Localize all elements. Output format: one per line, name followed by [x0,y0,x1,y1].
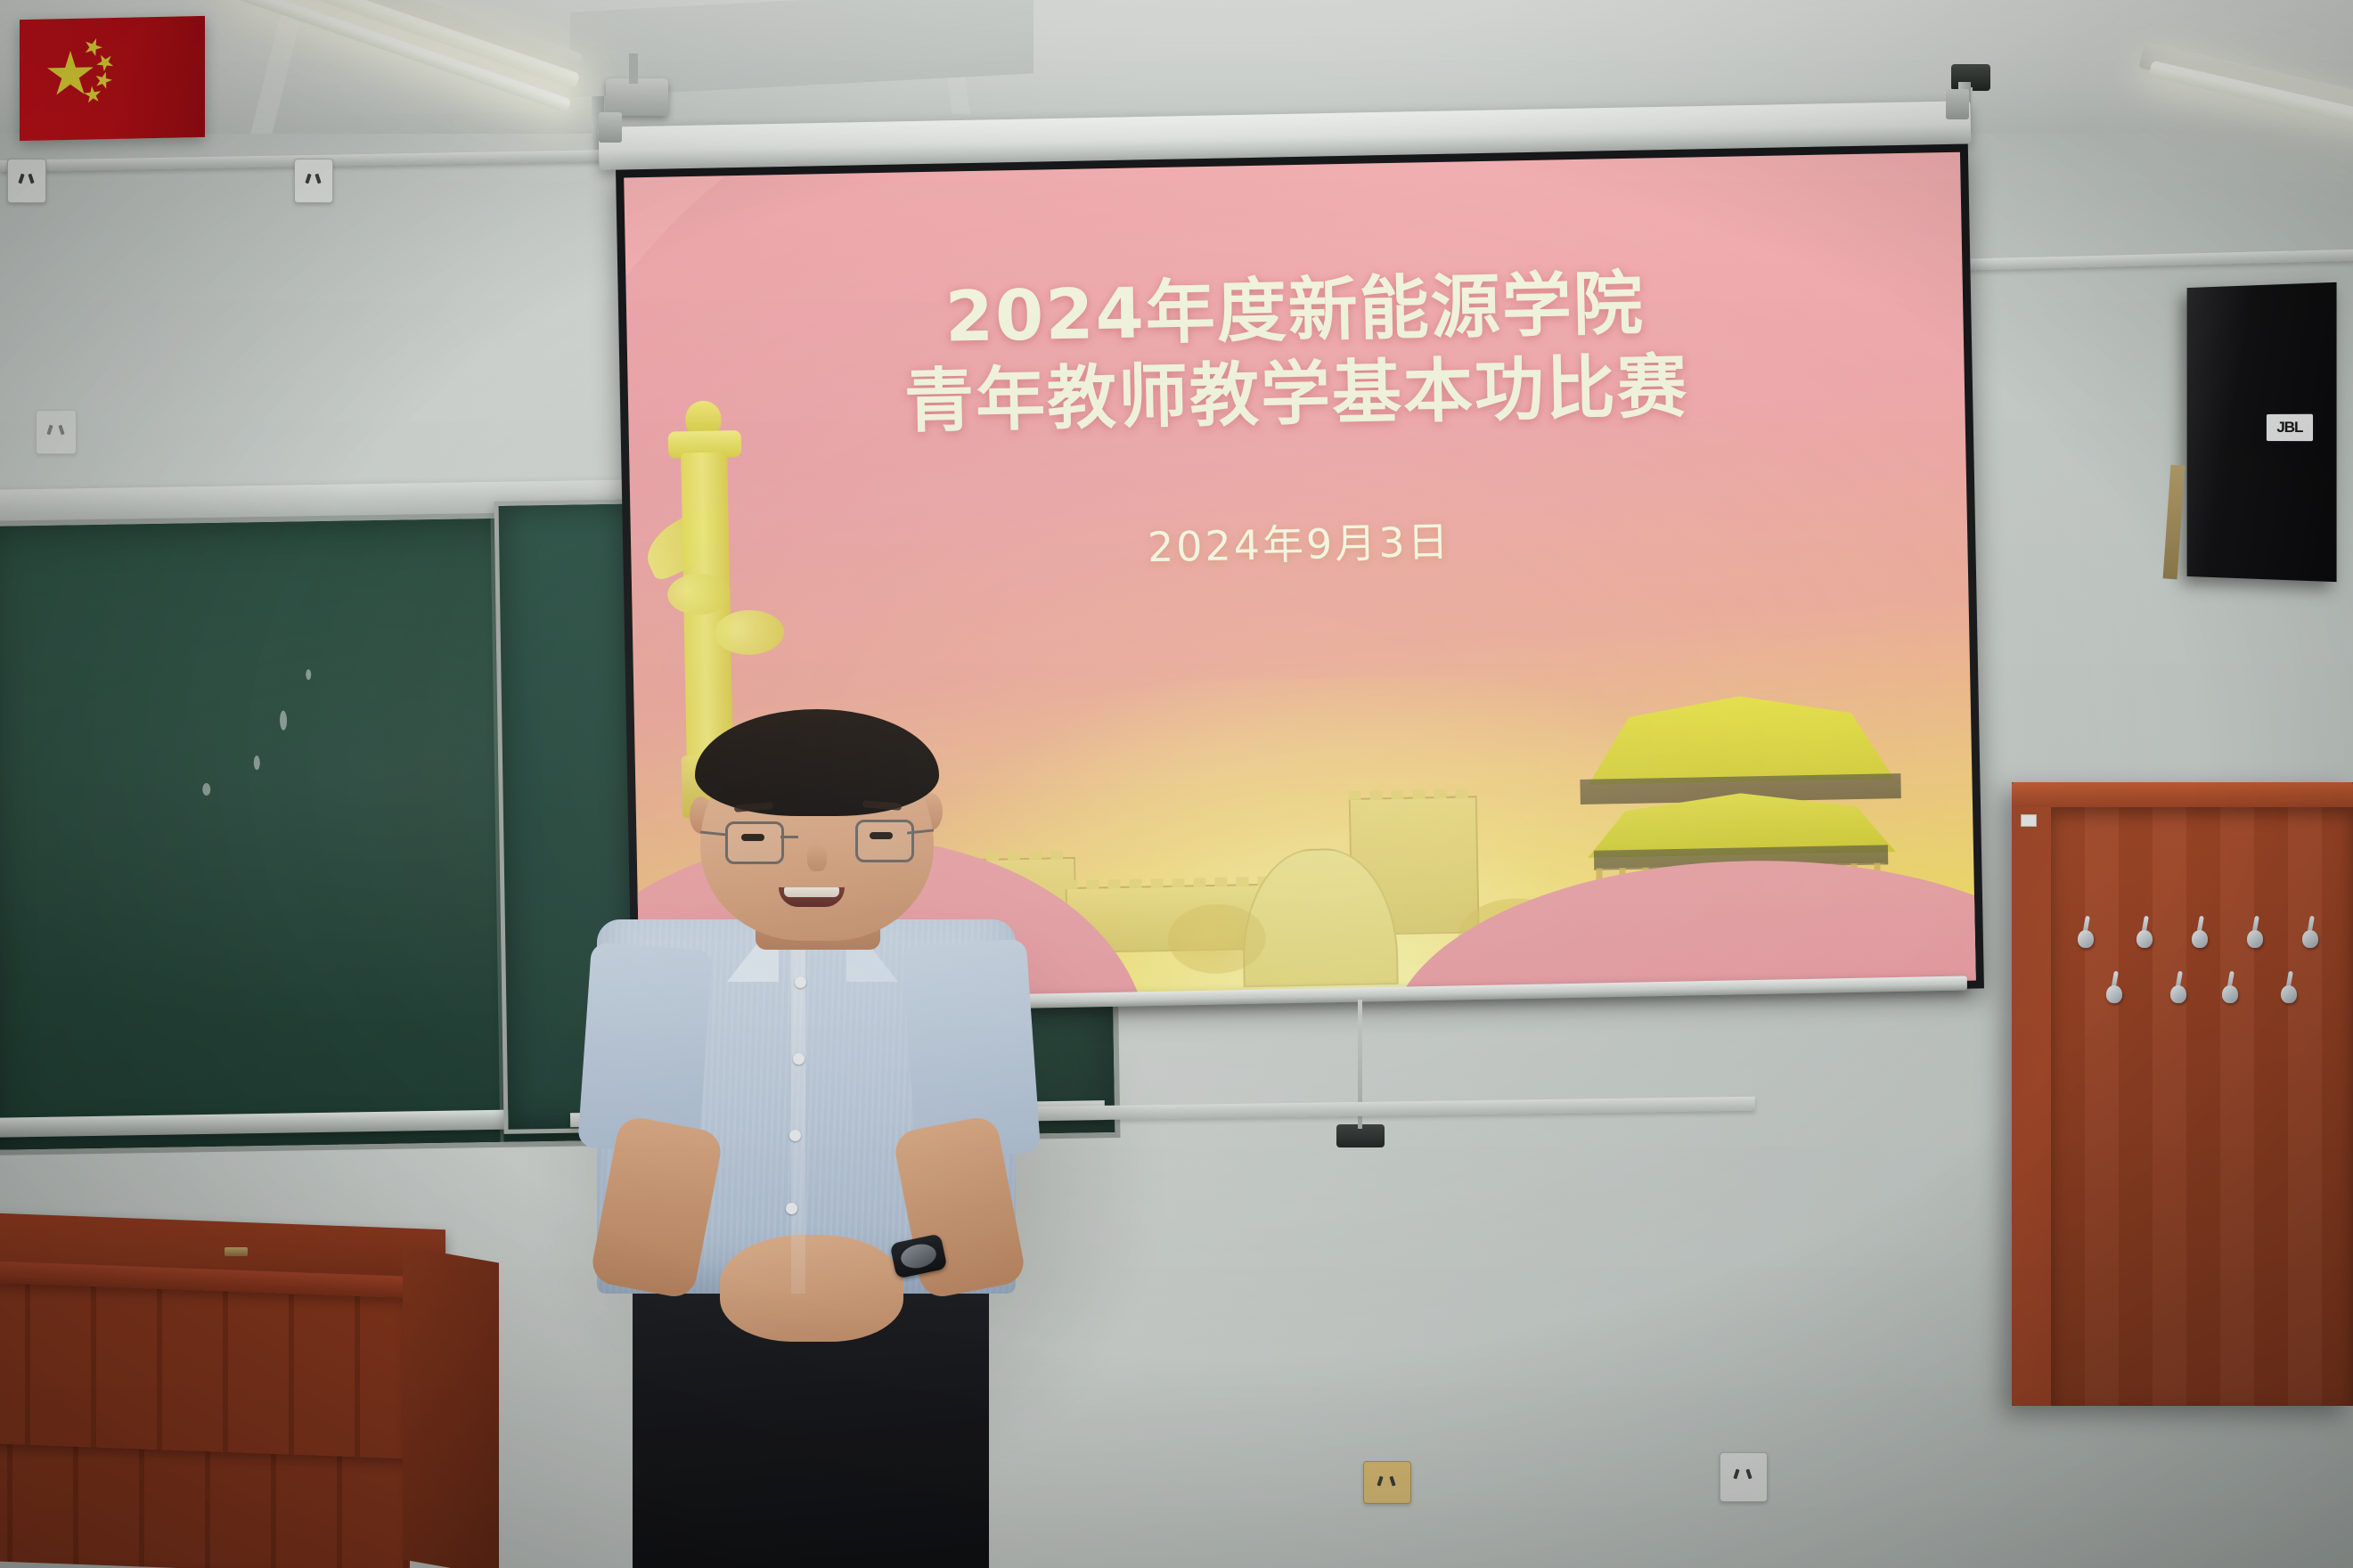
classroom-scene: 2024年度新能源学院 青年教师教学基本功比赛 2024年9月3日 JBL [0,0,2353,1568]
coat-hook-icon-6[interactable] [2104,971,2124,1003]
speaker-icon: JBL [2187,282,2337,582]
presenter [552,704,1123,1568]
presenter-eye-left [741,834,764,841]
presenter-hair [695,709,939,816]
shirt-button-4 [786,1203,797,1214]
glasses-bridge [780,836,798,838]
coat-hook-icon-7[interactable] [2169,971,2188,1003]
presenter-eye-right [870,832,893,839]
coat-hook-icon-3[interactable] [2190,916,2210,948]
coat-hook-icon-4[interactable] [2245,916,2265,948]
coat-hook-icon-1[interactable] [2076,916,2096,948]
power-outlet-icon-bottom-b [1720,1452,1768,1502]
power-outlet-icon-bottom-a [1363,1461,1411,1504]
coat-hook-icon-9[interactable] [2279,971,2299,1003]
screen-case-end-left [599,112,622,143]
coat-hook-icon-5[interactable] [2300,916,2320,948]
shirt-button-2 [793,1053,805,1065]
glasses-lens-left [725,821,784,864]
presenter-hands [720,1235,903,1342]
lectern-lower-panel [0,1441,410,1568]
power-outlet-icon-lower-left [36,410,77,454]
lectern[interactable] [0,1221,570,1568]
presenter-teeth [784,887,839,897]
presenter-shirt-placket [791,944,805,1294]
projector-mount [629,53,638,84]
coat-hook-icon-8[interactable] [2220,971,2240,1003]
speaker-brand-logo: JBL [2267,414,2313,441]
presenter-nose [807,845,827,871]
ceiling [0,0,2353,134]
lectern-lock[interactable] [225,1247,248,1256]
screen-case-end-right [1946,89,1969,119]
coat-hook-icon-2[interactable] [2135,916,2154,948]
coat-rack-backboard [2051,807,2353,1406]
power-outlet-icon-left [7,159,46,203]
watch-face [899,1241,939,1271]
power-outlet-icon-mid [294,159,333,203]
projector [606,78,668,116]
coat-rack-cabinet [2012,782,2353,1406]
presenter-mouth [779,887,845,907]
coat-rack-top-trim [2012,782,2353,807]
shirt-button-1 [795,976,806,988]
lectern-side-panel [403,1245,499,1568]
coat-rack-asset-label [2021,814,2037,827]
glasses-lens-right [855,820,914,862]
shirt-button-3 [789,1130,801,1141]
flag-icon [20,16,205,141]
